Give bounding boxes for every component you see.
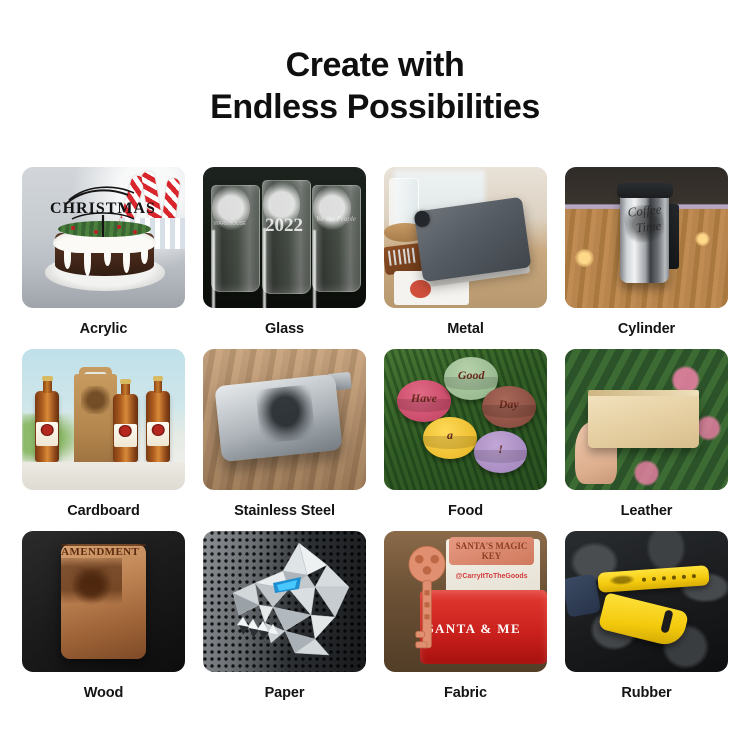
coffee-time-script-icon: Coffee Time <box>565 167 728 308</box>
svg-text:WAREHOUSE: WAREHOUSE <box>214 221 247 227</box>
svg-text:CHRISTMAS: CHRISTMAS <box>50 200 156 217</box>
beer-bottle <box>146 391 170 462</box>
thumbnail-glass[interactable]: 2022 WAREHOUSE We the People <box>203 167 366 308</box>
material-grid: CHRISTMAS Acrylic <box>22 167 728 702</box>
thumbnail-leather[interactable] <box>565 349 728 490</box>
thumbnail-rubber[interactable] <box>565 531 728 672</box>
caption-rubber: Rubber <box>565 672 728 702</box>
table-surface <box>22 462 185 490</box>
macaron: Have <box>397 380 451 422</box>
grid-item-food[interactable]: Have Good Day a ! Food <box>384 349 547 520</box>
beer-bottle <box>35 391 59 462</box>
grid-item-leather[interactable]: Leather <box>565 349 728 520</box>
apple-logo-icon <box>414 210 431 228</box>
page-title-line-1: Create with <box>0 44 750 86</box>
grid-item-acrylic[interactable]: CHRISTMAS Acrylic <box>22 167 185 338</box>
macaron-text: a <box>423 428 477 443</box>
svg-text:Coffee: Coffee <box>627 201 663 219</box>
flask-engraving <box>256 384 317 443</box>
pouch-zipper <box>588 390 699 396</box>
carrier-engraving <box>81 386 110 414</box>
grid-item-metal[interactable]: Metal <box>384 167 547 338</box>
macaron-text: Have <box>397 391 451 406</box>
grid-item-glass[interactable]: 2022 WAREHOUSE We the People Glass <box>203 167 366 338</box>
plaque-text: AMENDMENT <box>61 546 132 558</box>
wood-tag-text: SANTA'S MAGIC KEY <box>449 541 534 561</box>
thumbnail-cardboard[interactable] <box>22 349 185 490</box>
eagle-engraving-icon <box>61 558 122 609</box>
svg-text:Time: Time <box>635 218 662 236</box>
grid-item-paper[interactable]: Paper <box>203 531 366 702</box>
caption-wood: Wood <box>22 672 185 702</box>
caption-metal: Metal <box>384 308 547 338</box>
laptop-lid <box>414 196 532 281</box>
svg-text:We the People: We the People <box>316 215 356 223</box>
thumbnail-stainless-steel[interactable] <box>203 349 366 490</box>
caption-paper: Paper <box>203 672 366 702</box>
santa-magic-key-icon <box>394 542 459 663</box>
caption-cylinder: Cylinder <box>565 308 728 338</box>
macaron: a <box>423 417 477 459</box>
grid-item-cardboard[interactable]: Cardboard <box>22 349 185 520</box>
grid-item-cylinder[interactable]: Coffee Time Cylinder <box>565 167 728 338</box>
thumbnail-metal[interactable] <box>384 167 547 308</box>
glass-engraved-year-icon: 2022 WAREHOUSE We the People <box>203 167 366 308</box>
macaron: ! <box>474 431 528 473</box>
grid-item-stainless-steel[interactable]: Stainless Steel <box>203 349 366 520</box>
lowpoly-dragon-head-icon <box>203 531 366 672</box>
caption-leather: Leather <box>565 490 728 520</box>
thumbnail-paper[interactable] <box>203 531 366 672</box>
caption-stainless-steel: Stainless Steel <box>203 490 366 520</box>
page-root: Create with Endless Possibilities <box>0 0 750 750</box>
thumbnail-acrylic[interactable]: CHRISTMAS <box>22 167 185 308</box>
thumbnail-wood[interactable]: AMENDMENT <box>22 531 185 672</box>
wood-plaque: AMENDMENT <box>61 544 146 660</box>
macaron-text: ! <box>474 442 528 457</box>
grid-item-rubber[interactable]: Rubber <box>565 531 728 702</box>
svg-text:2022: 2022 <box>265 215 303 236</box>
caption-acrylic: Acrylic <box>22 308 185 338</box>
page-title-line-2: Endless Possibilities <box>0 86 750 128</box>
caption-food: Food <box>384 490 547 520</box>
grid-item-fabric[interactable]: SANTA'S MAGIC KEY @CarryItToTheGoods SAN… <box>384 531 547 702</box>
page-title: Create with Endless Possibilities <box>0 44 750 128</box>
band-engraving <box>609 574 636 586</box>
thumbnail-fabric[interactable]: SANTA'S MAGIC KEY @CarryItToTheGoods SAN… <box>384 531 547 672</box>
macaron-text: Good <box>444 368 498 383</box>
leather-pouch <box>588 391 699 447</box>
acrylic-cake-topper-icon: CHRISTMAS <box>22 167 185 308</box>
caption-fabric: Fabric <box>384 672 547 702</box>
macaron: Day <box>482 386 536 428</box>
macaron-text: Day <box>482 397 536 412</box>
thumbnail-food[interactable]: Have Good Day a ! <box>384 349 547 490</box>
handle-text: @CarryItToTheGoods <box>449 573 534 580</box>
grid-item-wood[interactable]: AMENDMENT Wood <box>22 531 185 702</box>
beer-bottle <box>113 394 137 462</box>
thumbnail-cylinder[interactable]: Coffee Time <box>565 167 728 308</box>
caption-cardboard: Cardboard <box>22 490 185 520</box>
caption-glass: Glass <box>203 308 366 338</box>
